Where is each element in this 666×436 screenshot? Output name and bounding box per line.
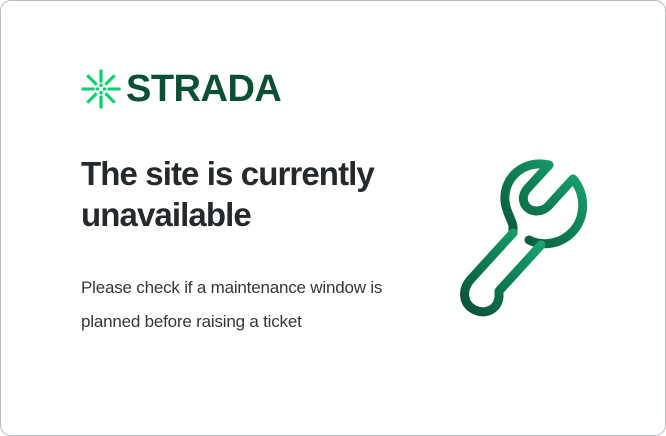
- brand-row: STRADA: [81, 65, 481, 113]
- maintenance-page-card: STRADA The site is currently unavailable…: [0, 0, 666, 436]
- brand-wordmark: STRADA: [126, 70, 281, 108]
- wrench-icon: [453, 153, 613, 318]
- brand-lockup: STRADA: [81, 65, 481, 113]
- page-description: Please check if a maintenance window is …: [81, 271, 401, 339]
- page-title: The site is currently unavailable: [81, 153, 441, 236]
- asterisk-starburst-icon: [79, 67, 123, 111]
